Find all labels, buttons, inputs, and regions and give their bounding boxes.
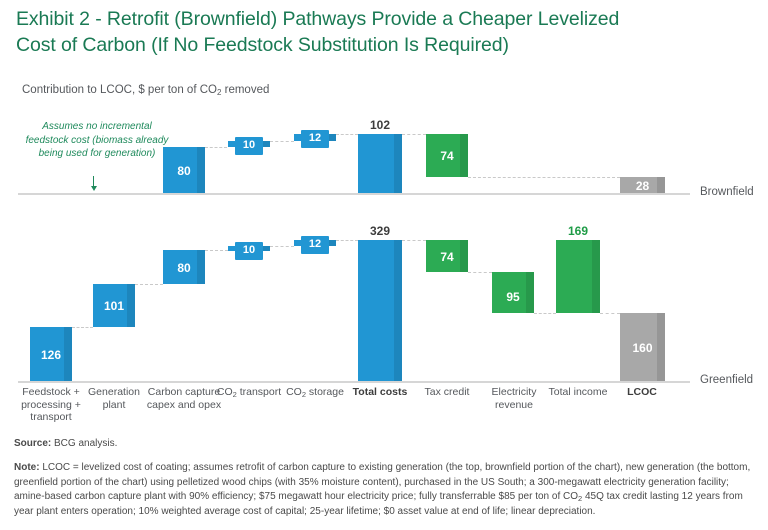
- connector-line: [135, 284, 163, 285]
- category-label-total-income: Total income: [548, 386, 608, 399]
- category-label-tax-credit: Tax credit: [417, 386, 477, 399]
- brownfield-panel: Assumes no incremental feedstock cost (b…: [0, 104, 768, 200]
- bar-shading: [328, 240, 336, 246]
- category-label-co2-transport: CO2 transport: [215, 386, 283, 400]
- source-label: Source:: [14, 438, 51, 449]
- connector-line: [402, 134, 426, 135]
- connector-line: [534, 313, 556, 314]
- bar-value-chip: 10: [235, 137, 263, 155]
- bar-greenfield-tax-credit[interactable]: 74: [426, 240, 468, 272]
- category-label-electricity-revenue: Electricity revenue: [478, 386, 550, 411]
- feedstock-annotation: Assumes no incremental feedstock cost (b…: [22, 120, 172, 161]
- page-title: Exhibit 2 - Retrofit (Brownfield) Pathwa…: [16, 6, 740, 58]
- source-line: Source: BCG analysis.: [14, 438, 117, 449]
- bar-top-label: 102: [358, 118, 402, 132]
- connector-line: [468, 177, 620, 178]
- source-text: BCG analysis.: [51, 438, 117, 449]
- title-line-1: Exhibit 2 - Retrofit (Brownfield) Pathwa…: [16, 8, 619, 30]
- bar-shading: [262, 246, 270, 251]
- brownfield-baseline: [18, 193, 690, 195]
- bar-shading: [592, 240, 600, 313]
- bar-value-chip: 10: [235, 242, 263, 260]
- category-label-carbon-capture: Carbon capture capex and opex: [146, 386, 222, 411]
- brownfield-panel-label: Brownfield: [700, 186, 754, 198]
- connector-line: [205, 147, 227, 148]
- category-label-lcoc: LCOC: [612, 386, 672, 399]
- note-block: Note: LCOC = levelized cost of coating; …: [14, 461, 756, 519]
- note-label: Note:: [14, 462, 40, 473]
- connector-line: [600, 313, 620, 314]
- connector-line: [72, 327, 93, 328]
- bar-value-label: 101: [93, 300, 135, 312]
- category-axis: Feedstock + processing + transport Gener…: [0, 386, 768, 432]
- bar-value-label: 74: [426, 150, 468, 162]
- bar-top-label: 169: [556, 224, 600, 238]
- bar-value-label: 160: [620, 342, 665, 354]
- subtitle-suffix: removed: [221, 84, 269, 96]
- connector-line: [468, 272, 492, 273]
- bar-greenfield-electricity-revenue[interactable]: 95: [492, 272, 534, 313]
- connector-line: [336, 240, 358, 241]
- bar-greenfield-generation-plant[interactable]: 101: [93, 284, 135, 327]
- bar-greenfield-total-costs[interactable]: [358, 240, 402, 381]
- subtitle-prefix: Contribution to LCOC, $ per ton of CO: [22, 84, 217, 96]
- bar-value-label: 80: [163, 165, 205, 177]
- greenfield-panel-label: Greenfield: [700, 374, 753, 386]
- bar-value-label: 74: [426, 251, 468, 263]
- bar-value-label: 95: [492, 291, 534, 303]
- bar-brownfield-tax-credit[interactable]: 74: [426, 134, 468, 177]
- annotation-arrow-icon: [93, 176, 94, 187]
- bar-greenfield-total-income[interactable]: [556, 240, 600, 313]
- connector-line: [402, 240, 426, 241]
- bar-shading: [394, 240, 402, 381]
- category-label-co2-storage: CO2 storage: [281, 386, 349, 400]
- chart-subtitle: Contribution to LCOC, $ per ton of CO2 r…: [22, 84, 269, 96]
- title-line-2: Cost of Carbon (If No Feedstock Substitu…: [16, 32, 740, 58]
- connector-line: [336, 134, 358, 135]
- connector-line: [270, 246, 294, 247]
- waterfall-chart: Assumes no incremental feedstock cost (b…: [0, 104, 768, 424]
- bar-brownfield-lcoc[interactable]: 28: [620, 177, 665, 193]
- bar-value-label: 28: [620, 180, 665, 192]
- category-label-total-costs: Total costs: [350, 386, 410, 399]
- bar-greenfield-feedstock[interactable]: 126: [30, 327, 72, 381]
- category-label-generation-plant: Generation plant: [80, 386, 148, 411]
- connector-line: [205, 250, 228, 251]
- bar-greenfield-carbon-capture[interactable]: 80: [163, 250, 205, 284]
- connector-line: [270, 141, 294, 142]
- bar-shading: [394, 134, 402, 193]
- category-label-feedstock: Feedstock + processing + transport: [12, 386, 90, 424]
- greenfield-panel: 126 101 80 10 12: [0, 211, 768, 391]
- greenfield-baseline: [18, 381, 690, 383]
- bar-value-chip: 12: [301, 236, 329, 254]
- bar-greenfield-lcoc[interactable]: 160: [620, 313, 665, 381]
- bar-value-label: 126: [30, 349, 72, 361]
- bar-top-label: 329: [358, 224, 402, 238]
- subtitle-subscript: 2: [217, 88, 221, 97]
- bar-shading: [328, 134, 336, 141]
- bar-brownfield-total-costs[interactable]: [358, 134, 402, 193]
- note-subscript: 2: [578, 494, 582, 503]
- bar-value-chip: 12: [301, 130, 329, 148]
- bar-brownfield-carbon-capture[interactable]: 80: [163, 147, 205, 193]
- bar-shading: [262, 141, 270, 147]
- bar-value-label: 80: [163, 262, 205, 274]
- exhibit-page: Exhibit 2 - Retrofit (Brownfield) Pathwa…: [0, 0, 768, 530]
